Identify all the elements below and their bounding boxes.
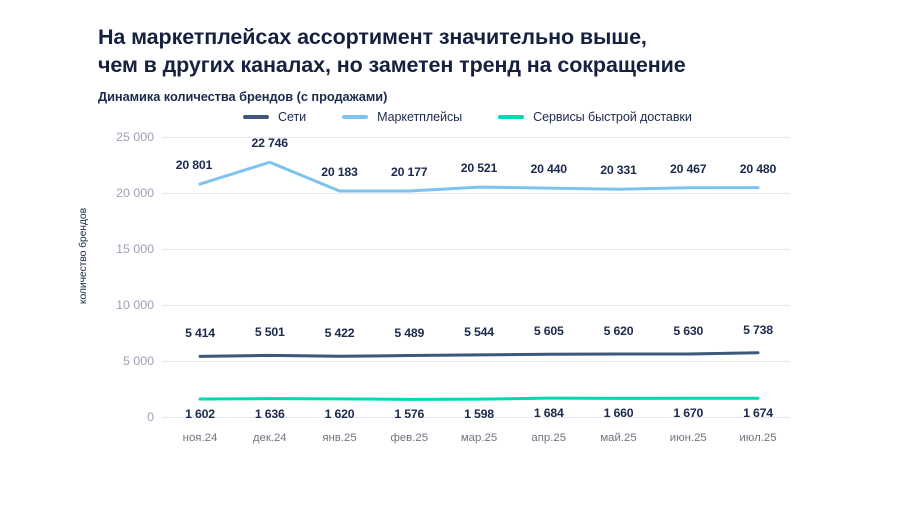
data-label: 5 738 [743, 323, 773, 337]
legend-label: Сервисы быстрой доставки [533, 110, 692, 124]
data-label: 20 521 [461, 161, 497, 175]
series-lines [162, 137, 790, 417]
data-label: 20 801 [176, 158, 212, 172]
y-axis-ticks: 05 00010 00015 00020 00025 000 [88, 130, 154, 424]
x-tick-label: ноя.24 [183, 432, 218, 444]
y-tick-label: 5 000 [123, 354, 154, 368]
legend-label: Сети [278, 110, 306, 124]
data-label: 1 636 [255, 407, 285, 421]
series-line-0 [200, 353, 758, 357]
x-axis-ticks: ноя.24дек.24янв.25фев.25мар.25апр.25май.… [162, 432, 790, 452]
data-label: 20 440 [531, 162, 567, 176]
series-layer [162, 137, 790, 417]
x-tick-label: июл.25 [739, 432, 776, 444]
data-label: 5 544 [464, 325, 494, 339]
y-tick-label: 20 000 [116, 186, 154, 200]
data-label: 5 620 [604, 324, 634, 338]
x-tick-label: мар.25 [461, 432, 497, 444]
data-label: 1 670 [673, 406, 703, 420]
data-label: 1 576 [394, 407, 424, 421]
gridline-15000 [162, 249, 790, 250]
slide-canvas: На маркетплейсах ассортимент значительно… [0, 0, 900, 506]
data-label: 1 620 [325, 407, 355, 421]
chart-legend: СетиМаркетплейсыСервисы быстрой доставки [243, 110, 692, 124]
y-tick-label: 25 000 [116, 130, 154, 144]
y-tick-label: 0 [147, 410, 154, 424]
data-label: 5 501 [255, 325, 285, 339]
gridline-10000 [162, 305, 790, 306]
data-label: 1 674 [743, 406, 773, 420]
plot-area: 5 4145 5015 4225 4895 5445 6055 6205 630… [162, 137, 790, 417]
data-label: 5 489 [394, 326, 424, 340]
x-tick-label: апр.25 [531, 432, 566, 444]
data-label: 20 183 [321, 165, 357, 179]
page-title: На маркетплейсах ассортимент значительно… [98, 24, 858, 79]
legend-item-2[interactable]: Сервисы быстрой доставки [498, 110, 692, 124]
legend-swatch-icon [243, 115, 269, 119]
legend-swatch-icon [342, 115, 368, 119]
y-tick-label: 15 000 [116, 242, 154, 256]
data-label: 20 177 [391, 165, 427, 179]
data-label: 20 467 [670, 162, 706, 176]
gridline-5000 [162, 361, 790, 362]
x-tick-label: май.25 [600, 432, 636, 444]
data-label: 20 331 [600, 163, 636, 177]
legend-swatch-icon [498, 115, 524, 119]
header: На маркетплейсах ассортимент значительно… [98, 24, 858, 104]
data-label: 20 480 [740, 162, 776, 176]
data-label: 5 414 [185, 326, 215, 340]
data-label: 1 598 [464, 407, 494, 421]
y-tick-label: 10 000 [116, 298, 154, 312]
x-tick-label: фев.25 [390, 432, 428, 444]
data-label: 5 605 [534, 324, 564, 338]
x-tick-label: дек.24 [253, 432, 287, 444]
data-label: 1 684 [534, 406, 564, 420]
chart-subtitle: Динамика количества брендов (с продажами… [98, 89, 858, 104]
legend-label: Маркетплейсы [377, 110, 462, 124]
legend-item-1[interactable]: Маркетплейсы [342, 110, 462, 124]
data-label: 22 746 [252, 136, 288, 150]
data-label: 1 660 [604, 406, 634, 420]
x-tick-label: янв.25 [322, 432, 356, 444]
series-line-2 [200, 398, 758, 399]
gridline-20000 [162, 193, 790, 194]
x-tick-label: июн.25 [670, 432, 707, 444]
data-label: 1 602 [185, 407, 215, 421]
data-label: 5 630 [673, 324, 703, 338]
data-label: 5 422 [325, 326, 355, 340]
legend-item-0[interactable]: Сети [243, 110, 306, 124]
